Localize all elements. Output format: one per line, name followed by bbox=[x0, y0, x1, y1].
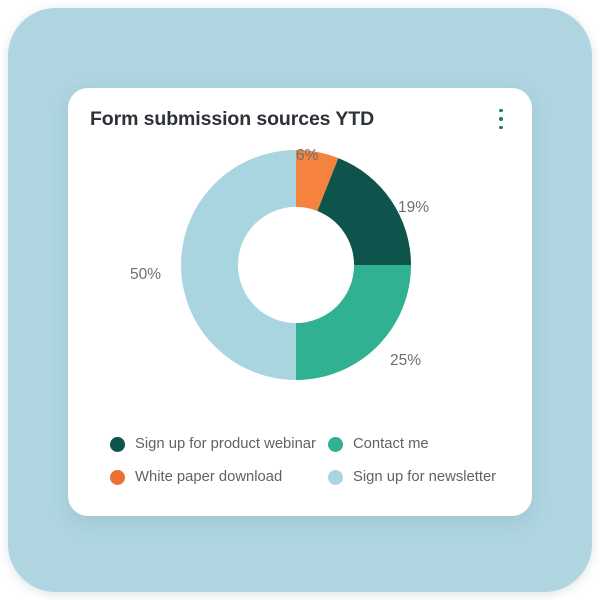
card-header: Form submission sources YTD bbox=[68, 88, 532, 150]
chart-legend: Sign up for product webinar Contact me W… bbox=[110, 436, 502, 485]
legend-item-label: Sign up for product webinar bbox=[135, 436, 316, 452]
slice-value-label-contact-me: 25% bbox=[390, 352, 421, 370]
slice-value-label-white-paper-download: 6% bbox=[296, 147, 318, 165]
kebab-menu-icon[interactable] bbox=[490, 106, 512, 132]
donut-chart bbox=[68, 142, 532, 432]
slice-value-label-newsletter: 50% bbox=[130, 266, 161, 284]
legend-swatch-icon bbox=[328, 470, 343, 485]
legend-item-label: Contact me bbox=[353, 436, 429, 452]
legend-swatch-icon bbox=[110, 437, 125, 452]
legend-item-label: Sign up for newsletter bbox=[353, 469, 496, 485]
chart-card: Form submission sources YTD 6% 19% 25% 5… bbox=[68, 88, 532, 516]
legend-item-contact-me[interactable]: Contact me bbox=[328, 436, 502, 452]
screenshot-root: Form submission sources YTD 6% 19% 25% 5… bbox=[0, 0, 600, 600]
kebab-dot-3 bbox=[499, 126, 502, 129]
legend-swatch-icon bbox=[110, 470, 125, 485]
chart-area: 6% 19% 25% 50% bbox=[68, 142, 532, 432]
donut-chart-svg bbox=[68, 142, 532, 432]
legend-item-white-paper-download[interactable]: White paper download bbox=[110, 469, 328, 485]
legend-item-product-webinar[interactable]: Sign up for product webinar bbox=[110, 436, 328, 452]
donut-slice[interactable] bbox=[181, 150, 296, 380]
kebab-dot-2 bbox=[499, 117, 502, 120]
legend-swatch-icon bbox=[328, 437, 343, 452]
legend-item-label: White paper download bbox=[135, 469, 282, 485]
page-title: Form submission sources YTD bbox=[90, 108, 374, 131]
slice-value-label-product-webinar: 19% bbox=[398, 199, 429, 217]
kebab-dot-1 bbox=[499, 109, 502, 112]
legend-item-newsletter[interactable]: Sign up for newsletter bbox=[328, 469, 502, 485]
